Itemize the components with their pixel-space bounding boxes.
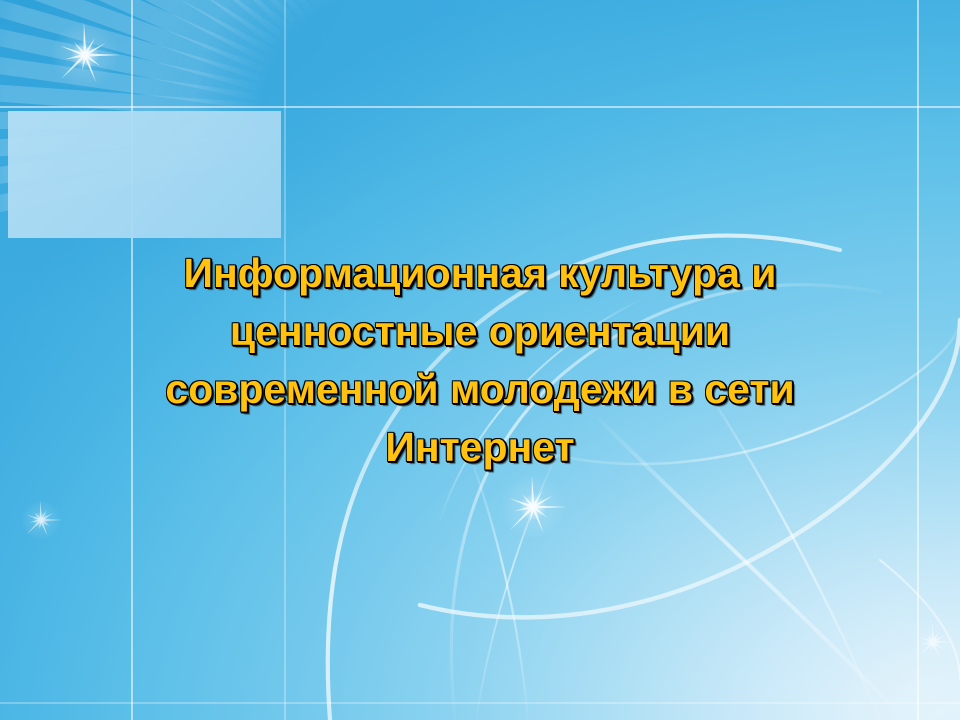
slide-title: Информационная культура и ценностные ори… bbox=[60, 244, 900, 476]
title-line-3: современной молодежи в сети bbox=[60, 360, 900, 418]
grid-line-horizontal-2 bbox=[0, 702, 960, 704]
title-line-1: Информационная культура и bbox=[60, 244, 900, 302]
grid-line-horizontal-1 bbox=[0, 106, 960, 108]
presentation-slide: Информационная культура и ценностные ори… bbox=[0, 0, 960, 720]
title-line-2: ценностные ориентации bbox=[60, 302, 900, 360]
light-rectangle-panel bbox=[8, 111, 281, 238]
title-line-4: Интернет bbox=[60, 418, 900, 476]
grid-line-vertical-3 bbox=[917, 0, 919, 720]
